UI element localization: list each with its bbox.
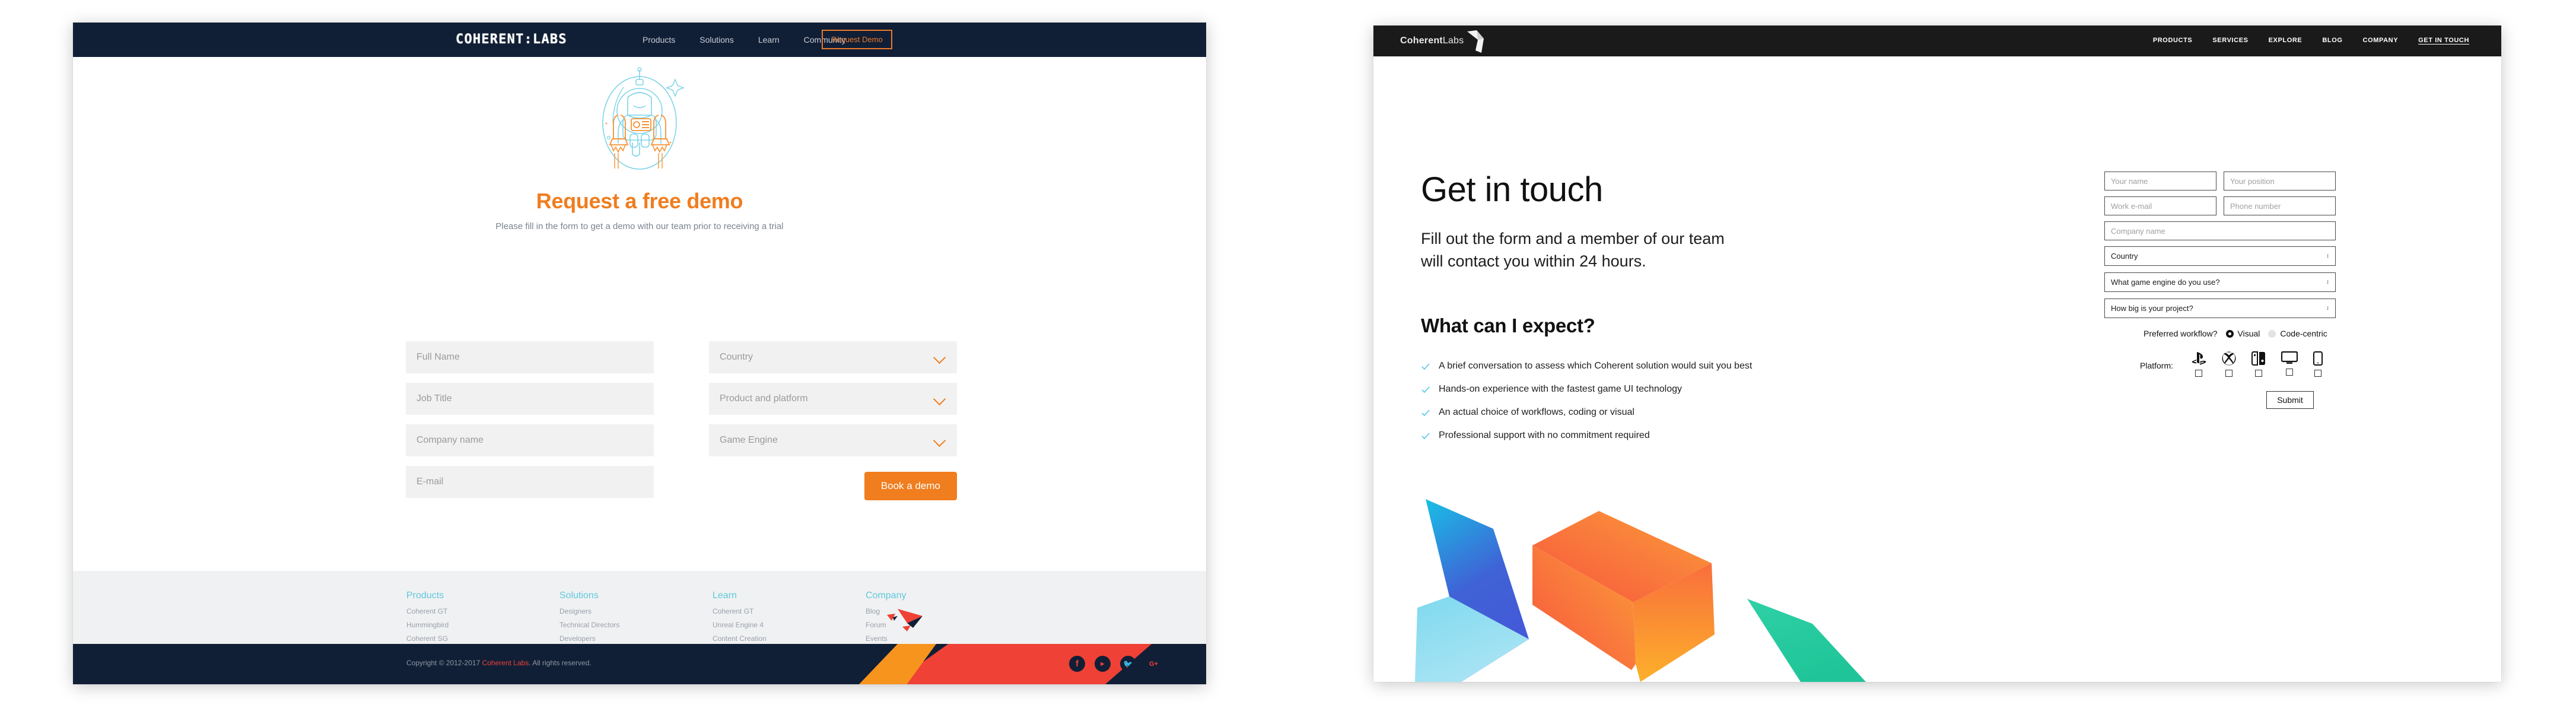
page-title: Get in touch bbox=[1421, 170, 1884, 209]
logo-bold: Coherent bbox=[1400, 36, 1443, 46]
book-a-demo-button[interactable]: Book a demo bbox=[864, 472, 957, 500]
platform-checkbox-nintendo-switch[interactable] bbox=[2255, 370, 2262, 377]
social-links: f ► 🐦 G+ bbox=[1069, 656, 1162, 672]
workflow-option-code-label: Code-centric bbox=[2280, 329, 2327, 338]
lead-line-1: Fill out the form and a member of our te… bbox=[1421, 227, 1884, 250]
left-bottom-bar: Copyright © 2012-2017 Coherent Labs. All… bbox=[73, 644, 1206, 684]
footer-link[interactable]: Technical Directors bbox=[559, 621, 713, 629]
project-size-select[interactable]: How big is your project? ↕ bbox=[2104, 299, 2336, 318]
youtube-icon[interactable]: ► bbox=[1095, 656, 1111, 672]
logo-light: Labs bbox=[1443, 36, 1464, 46]
copyright-brand: Coherent Labs bbox=[482, 659, 529, 667]
list-item-label: A brief conversation to assess which Coh… bbox=[1439, 361, 1752, 372]
footer-heading-solutions: Solutions bbox=[559, 590, 713, 601]
footer-link[interactable]: Developers bbox=[559, 634, 713, 643]
form-row-1: Your name Your position bbox=[2104, 172, 2454, 191]
game-engine-select[interactable]: Game Engine bbox=[709, 424, 957, 456]
page-lead: Fill out the form and a member of our te… bbox=[1421, 227, 1884, 273]
expect-heading: What can I expect? bbox=[1421, 315, 1884, 337]
request-demo-button[interactable]: Request Demo bbox=[822, 30, 892, 49]
game-engine-select-label: What game engine do you use? bbox=[2111, 278, 2220, 287]
contact-form: Your name Your position Work e-mail Phon… bbox=[2104, 172, 2454, 409]
list-item-label: Professional support with no commitment … bbox=[1439, 430, 1650, 441]
right-browser-page: CoherentLabs PRODUCTS SERVICES EXPLORE B… bbox=[1373, 26, 2501, 682]
project-size-select-label: How big is your project? bbox=[2111, 304, 2193, 313]
nav-item-explore[interactable]: EXPLORE bbox=[2269, 37, 2303, 44]
full-name-input[interactable]: Full Name bbox=[406, 341, 654, 373]
left-footer: Products Coherent GT Hummingbird Coheren… bbox=[73, 571, 1206, 644]
list-item: Hands-on experience with the fastest gam… bbox=[1421, 384, 1884, 395]
right-nav-bar: CoherentLabs PRODUCTS SERVICES EXPLORE B… bbox=[1373, 26, 2501, 56]
radio-unselected-icon[interactable] bbox=[2268, 330, 2276, 338]
nav-item-blog[interactable]: BLOG bbox=[2322, 37, 2342, 44]
xbox-icon bbox=[2222, 351, 2236, 366]
chevron-updown-icon: ↕ bbox=[2326, 253, 2329, 259]
copyright-pre: Copyright © 2012-2017 bbox=[406, 659, 482, 667]
copyright-post: . All rights reserved. bbox=[529, 659, 591, 667]
nintendo-switch-icon bbox=[2251, 351, 2266, 366]
footer-link[interactable]: Content Creation bbox=[713, 634, 866, 643]
left-page-subtitle: Please fill in the form to get a demo wi… bbox=[73, 221, 1206, 231]
product-platform-select[interactable]: Product and platform bbox=[709, 383, 957, 415]
platform-option-mobile[interactable] bbox=[2313, 351, 2323, 377]
platform-checkbox-xbox[interactable] bbox=[2225, 370, 2232, 377]
nav-item-products[interactable]: PRODUCTS bbox=[2153, 37, 2193, 44]
workflow-option-code-centric[interactable]: Code-centric bbox=[2268, 329, 2327, 338]
coherent-labs-mark-icon bbox=[1464, 29, 1487, 54]
mobile-phone-icon bbox=[2313, 351, 2323, 366]
company-name-input[interactable]: Company name bbox=[2104, 221, 2336, 240]
platform-checkbox-group: Platform: bbox=[2104, 351, 2454, 377]
demo-request-form: Full Name Job Title Company name E-mail … bbox=[406, 341, 1017, 500]
footer-link[interactable]: Hummingbird bbox=[406, 621, 559, 629]
left-browser-page: COHERENT:LABS Products Solutions Learn C… bbox=[73, 23, 1206, 684]
abstract-gradient-artwork bbox=[1391, 486, 1925, 682]
workflow-option-visual[interactable]: Visual bbox=[2226, 329, 2260, 338]
footer-heading-company: Company bbox=[866, 590, 1019, 601]
list-item: An actual choice of workflows, coding or… bbox=[1421, 407, 1884, 418]
nav-item-solutions[interactable]: Solutions bbox=[699, 35, 734, 45]
country-select[interactable]: Country ↕ bbox=[2104, 246, 2336, 266]
your-name-input[interactable]: Your name bbox=[2104, 172, 2216, 191]
company-name-input[interactable]: Company name bbox=[406, 424, 654, 456]
platform-checkbox-playstation[interactable] bbox=[2195, 370, 2202, 377]
twitter-icon[interactable]: 🐦 bbox=[1120, 656, 1136, 672]
left-hero: Request a free demo Please fill in the f… bbox=[73, 57, 1206, 231]
paper-plane-decoration bbox=[886, 605, 939, 636]
platform-option-xbox[interactable] bbox=[2222, 351, 2236, 377]
platform-option-nintendo-switch[interactable] bbox=[2251, 351, 2266, 377]
radio-selected-icon[interactable] bbox=[2226, 330, 2234, 338]
phone-number-input[interactable]: Phone number bbox=[2224, 196, 2336, 215]
footer-heading-learn: Learn bbox=[713, 590, 866, 601]
form-right-column: Country Product and platform Game Engine… bbox=[709, 341, 957, 500]
screenshot-stage: COHERENT:LABS Products Solutions Learn C… bbox=[0, 0, 2576, 708]
form-left-column: Full Name Job Title Company name E-mail bbox=[406, 341, 654, 500]
chevron-updown-icon: ↕ bbox=[2326, 280, 2329, 285]
footer-heading-products: Products bbox=[406, 590, 559, 601]
game-engine-select[interactable]: What game engine do you use? ↕ bbox=[2104, 272, 2336, 292]
right-content-column: Get in touch Fill out the form and a mem… bbox=[1421, 170, 1884, 453]
list-item-label: Hands-on experience with the fastest gam… bbox=[1439, 384, 1682, 395]
right-nav-links: PRODUCTS SERVICES EXPLORE BLOG COMPANY G… bbox=[2153, 37, 2469, 44]
left-nav-links: Products Solutions Learn Community bbox=[643, 35, 845, 45]
platform-checkbox-mobile[interactable] bbox=[2314, 370, 2321, 377]
nav-item-learn[interactable]: Learn bbox=[758, 35, 780, 45]
list-item: Professional support with no commitment … bbox=[1421, 430, 1884, 441]
platform-option-desktop[interactable] bbox=[2281, 351, 2298, 377]
desktop-monitor-icon bbox=[2281, 351, 2298, 364]
list-item: A brief conversation to assess which Coh… bbox=[1421, 361, 1884, 372]
nav-item-services[interactable]: SERVICES bbox=[2212, 37, 2248, 44]
your-position-input[interactable]: Your position bbox=[2224, 172, 2336, 191]
check-icon bbox=[1421, 408, 1430, 418]
country-select[interactable]: Country bbox=[709, 341, 957, 373]
footer-link[interactable]: Coherent GT bbox=[713, 607, 866, 615]
footer-link[interactable]: Coherent SG bbox=[406, 634, 559, 643]
left-page-title: Request a free demo bbox=[73, 189, 1206, 214]
check-icon bbox=[1421, 362, 1430, 372]
check-icon bbox=[1421, 385, 1430, 395]
lead-line-2: will contact you within 24 hours. bbox=[1421, 250, 1884, 272]
check-icon bbox=[1421, 431, 1430, 441]
workflow-option-visual-label: Visual bbox=[2238, 329, 2260, 338]
left-nav-bar: COHERENT:LABS Products Solutions Learn C… bbox=[73, 23, 1206, 57]
platform-option-playstation[interactable] bbox=[2191, 351, 2206, 377]
footer-link[interactable]: Coherent GT bbox=[406, 607, 559, 615]
nav-item-get-in-touch[interactable]: GET IN TOUCH bbox=[2418, 37, 2469, 44]
workflow-radio-group: Preferred workflow? Visual Code-centric bbox=[2104, 329, 2454, 338]
list-item-label: An actual choice of workflows, coding or… bbox=[1439, 407, 1634, 418]
submit-button[interactable]: Submit bbox=[2266, 391, 2314, 409]
footer-link[interactable]: Designers bbox=[559, 607, 713, 615]
form-row-2: Work e-mail Phone number bbox=[2104, 196, 2454, 215]
coherent-labs-logo[interactable]: COHERENT:LABS bbox=[456, 32, 567, 47]
form-row-3: Company name bbox=[2104, 221, 2454, 240]
email-input[interactable]: E-mail bbox=[406, 466, 654, 498]
job-title-input[interactable]: Job Title bbox=[406, 383, 654, 415]
workflow-label: Preferred workflow? bbox=[2144, 329, 2218, 338]
platform-label: Platform: bbox=[2140, 351, 2173, 370]
chevron-updown-icon: ↕ bbox=[2326, 306, 2329, 312]
playstation-icon bbox=[2191, 351, 2206, 366]
coherent-labs-wordmark[interactable]: CoherentLabs bbox=[1400, 36, 1464, 46]
google-plus-icon[interactable]: G+ bbox=[1146, 656, 1162, 672]
facebook-icon[interactable]: f bbox=[1069, 656, 1085, 672]
footer-link[interactable]: Unreal Engine 4 bbox=[713, 621, 866, 629]
nav-item-products[interactable]: Products bbox=[643, 35, 675, 45]
astronaut-illustration bbox=[73, 57, 1206, 185]
work-email-input[interactable]: Work e-mail bbox=[2104, 196, 2216, 215]
country-select-label: Country bbox=[2111, 252, 2138, 261]
platform-checkbox-desktop[interactable] bbox=[2286, 369, 2293, 376]
expect-list: A brief conversation to assess which Coh… bbox=[1421, 361, 1884, 441]
nav-item-company[interactable]: COMPANY bbox=[2363, 37, 2399, 44]
copyright-text: Copyright © 2012-2017 Coherent Labs. All… bbox=[406, 659, 591, 667]
